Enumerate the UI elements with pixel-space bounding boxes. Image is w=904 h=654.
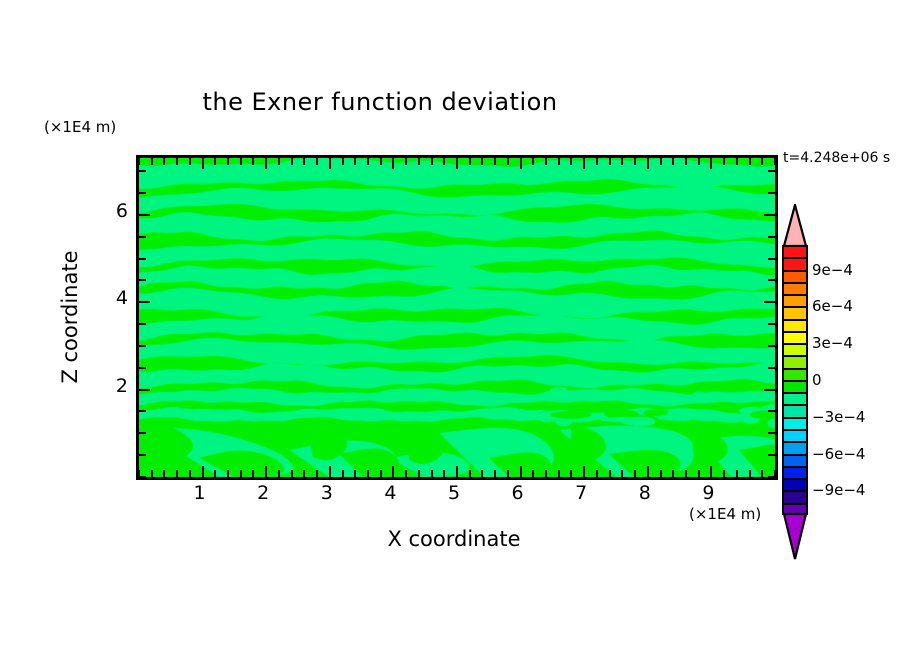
y-axis-minor-tick xyxy=(768,367,775,369)
x-axis-minor-tick xyxy=(609,158,611,165)
x-tick-label: 9 xyxy=(688,482,728,504)
x-axis-minor-tick xyxy=(405,470,407,477)
colorbar-band xyxy=(784,370,806,382)
x-axis-minor-tick xyxy=(507,158,509,165)
colorbar-band xyxy=(784,456,806,468)
x-axis-minor-tick xyxy=(214,158,216,165)
y-axis-minor-tick xyxy=(768,236,775,238)
colorbar-tick-label: 6e−4 xyxy=(812,297,853,315)
x-axis-minor-tick xyxy=(621,470,623,477)
y-axis-minor-tick xyxy=(139,192,146,194)
colorbar-tick-label: −9e−4 xyxy=(812,481,865,499)
x-axis-major-tick xyxy=(202,466,204,477)
x-tick-label: 5 xyxy=(434,482,474,504)
y-axis-minor-tick xyxy=(768,476,775,478)
x-axis-major-tick xyxy=(392,158,394,169)
x-axis-minor-tick xyxy=(481,158,483,165)
x-axis-major-tick xyxy=(265,158,267,169)
colorbar-tick-label: 9e−4 xyxy=(812,261,853,279)
y-axis-minor-tick xyxy=(139,279,146,281)
colorbar-band xyxy=(784,443,806,455)
x-axis-minor-tick xyxy=(214,470,216,477)
x-tick-label: 1 xyxy=(180,482,220,504)
x-axis-minor-tick xyxy=(252,158,254,165)
y-axis-minor-tick xyxy=(768,410,775,412)
colorbar-band xyxy=(784,296,806,308)
x-tick-label: 3 xyxy=(307,482,347,504)
y-axis-minor-tick xyxy=(768,279,775,281)
x-axis-minor-tick xyxy=(342,470,344,477)
x-axis-minor-tick xyxy=(685,470,687,477)
colorbar-band xyxy=(784,394,806,406)
y-axis-major-tick xyxy=(764,301,775,303)
x-axis-minor-tick xyxy=(151,158,153,165)
x-axis-minor-tick xyxy=(507,470,509,477)
x-axis-minor-tick xyxy=(303,158,305,165)
colorbar-band xyxy=(784,272,806,284)
y-axis-minor-tick xyxy=(139,258,146,260)
x-axis-minor-tick xyxy=(761,470,763,477)
x-axis-minor-tick xyxy=(240,470,242,477)
x-axis-minor-tick xyxy=(367,470,369,477)
y-axis-minor-tick xyxy=(768,432,775,434)
x-axis-minor-tick xyxy=(151,470,153,477)
x-axis-minor-tick xyxy=(291,470,293,477)
y-axis-minor-tick xyxy=(139,170,146,172)
colorbar-band xyxy=(784,468,806,480)
x-axis-minor-tick xyxy=(660,470,662,477)
x-axis-minor-tick xyxy=(227,158,229,165)
contour-plot-figure: the Exner function deviation (×1E4 m) t=… xyxy=(0,0,904,654)
colorbar-band xyxy=(784,480,806,492)
y-axis-minor-tick xyxy=(139,476,146,478)
x-axis-minor-tick xyxy=(380,158,382,165)
y-tick-label: 2 xyxy=(88,375,128,397)
x-axis-minor-tick xyxy=(405,158,407,165)
time-annotation: t=4.248e+06 s xyxy=(783,150,890,166)
x-axis-title: X coordinate xyxy=(136,527,772,551)
x-axis-major-tick xyxy=(583,466,585,477)
colorbar-band xyxy=(784,357,806,369)
colorbar-band xyxy=(784,431,806,443)
y-tick-label: 4 xyxy=(88,287,128,309)
x-axis-minor-tick xyxy=(291,158,293,165)
x-axis-minor-tick xyxy=(621,158,623,165)
x-axis-major-tick xyxy=(520,158,522,169)
x-axis-minor-tick xyxy=(240,158,242,165)
colorbar-band xyxy=(784,419,806,431)
x-axis-minor-tick xyxy=(761,158,763,165)
x-axis-minor-tick xyxy=(418,158,420,165)
y-axis-minor-tick xyxy=(768,345,775,347)
y-axis-minor-tick xyxy=(139,367,146,369)
colorbar-band xyxy=(784,333,806,345)
x-axis-major-tick xyxy=(329,158,331,169)
x-axis-minor-tick xyxy=(774,158,776,165)
x-axis-minor-tick xyxy=(176,158,178,165)
y-axis-minor-tick xyxy=(768,192,775,194)
y-axis-minor-tick xyxy=(139,432,146,434)
x-axis-minor-tick xyxy=(443,158,445,165)
x-tick-label: 2 xyxy=(243,482,283,504)
x-axis-minor-tick xyxy=(380,470,382,477)
colorbar-over-arrow-icon xyxy=(782,204,808,247)
y-axis-minor-tick xyxy=(139,410,146,412)
x-axis-major-tick xyxy=(710,158,712,169)
x-axis-major-tick xyxy=(265,466,267,477)
y-axis-title: Z coordinate xyxy=(58,217,82,417)
x-axis-minor-tick xyxy=(316,470,318,477)
x-axis-minor-tick xyxy=(634,158,636,165)
y-tick-label: 6 xyxy=(88,200,128,222)
x-axis-minor-tick xyxy=(609,470,611,477)
x-axis-minor-tick xyxy=(138,158,140,165)
x-axis-minor-tick xyxy=(418,470,420,477)
x-axis-minor-tick xyxy=(494,158,496,165)
x-axis-minor-tick xyxy=(431,158,433,165)
y-axis-major-tick xyxy=(139,214,150,216)
x-axis-minor-tick xyxy=(494,470,496,477)
x-axis-minor-tick xyxy=(443,470,445,477)
x-axis-minor-tick xyxy=(532,470,534,477)
x-axis-major-tick xyxy=(392,466,394,477)
x-axis-minor-tick xyxy=(596,158,598,165)
x-axis-minor-tick xyxy=(736,158,738,165)
x-axis-minor-tick xyxy=(354,158,356,165)
x-axis-minor-tick xyxy=(558,158,560,165)
x-tick-label: 6 xyxy=(498,482,538,504)
x-axis-minor-tick xyxy=(723,158,725,165)
x-axis-major-tick xyxy=(710,466,712,477)
y-axis-major-tick xyxy=(139,301,150,303)
x-axis-major-tick xyxy=(456,466,458,477)
colorbar: 9e−46e−43e−40−3e−4−6e−4−9e−4 xyxy=(782,204,808,514)
x-axis-minor-tick xyxy=(278,470,280,477)
colorbar-band xyxy=(784,321,806,333)
x-axis-minor-tick xyxy=(698,470,700,477)
colorbar-band xyxy=(784,406,806,418)
colorbar-tick-label: 3e−4 xyxy=(812,334,853,352)
x-axis-minor-tick xyxy=(367,158,369,165)
x-axis-major-tick xyxy=(583,158,585,169)
colorbar-band xyxy=(784,259,806,271)
x-axis-minor-tick xyxy=(189,158,191,165)
colorbar-tick-label: −6e−4 xyxy=(812,445,865,463)
y-axis-minor-tick xyxy=(768,170,775,172)
x-axis-minor-tick xyxy=(469,158,471,165)
x-axis-minor-tick xyxy=(545,470,547,477)
x-axis-minor-tick xyxy=(481,470,483,477)
x-axis-minor-tick xyxy=(596,470,598,477)
x-axis-major-tick xyxy=(456,158,458,169)
y-axis-minor-tick xyxy=(139,345,146,347)
colorbar-tick-label: −3e−4 xyxy=(812,408,865,426)
contour-field xyxy=(139,158,775,477)
x-axis-minor-tick xyxy=(163,158,165,165)
x-axis-minor-tick xyxy=(672,470,674,477)
x-axis-minor-tick xyxy=(736,470,738,477)
colorbar-band xyxy=(784,247,806,259)
page-title: the Exner function deviation xyxy=(0,88,760,116)
colorbar-tick-label: 0 xyxy=(812,371,822,389)
x-axis-minor-tick xyxy=(189,470,191,477)
colorbar-band xyxy=(784,284,806,296)
colorbar-band xyxy=(784,345,806,357)
x-axis-minor-tick xyxy=(163,470,165,477)
x-axis-minor-tick xyxy=(227,470,229,477)
x-axis-minor-tick xyxy=(570,470,572,477)
y-axis-major-tick xyxy=(139,389,150,391)
x-axis-minor-tick xyxy=(252,470,254,477)
x-axis-major-tick xyxy=(520,466,522,477)
x-axis-minor-tick xyxy=(660,158,662,165)
x-axis-minor-tick xyxy=(278,158,280,165)
x-axis-minor-tick xyxy=(316,158,318,165)
x-axis-minor-tick xyxy=(303,470,305,477)
x-axis-major-tick xyxy=(329,466,331,477)
x-axis-major-tick xyxy=(202,158,204,169)
colorbar-under-arrow-icon xyxy=(782,512,808,560)
x-axis-minor-tick xyxy=(342,158,344,165)
x-axis-minor-tick xyxy=(545,158,547,165)
x-axis-unit-label: (×1E4 m) xyxy=(689,505,761,523)
plot-area xyxy=(136,155,778,480)
x-axis-minor-tick xyxy=(723,470,725,477)
x-axis-minor-tick xyxy=(532,158,534,165)
x-axis-minor-tick xyxy=(176,470,178,477)
y-axis-major-tick xyxy=(764,214,775,216)
y-axis-minor-tick xyxy=(139,323,146,325)
x-tick-label: 7 xyxy=(561,482,601,504)
x-axis-minor-tick xyxy=(570,158,572,165)
x-axis-minor-tick xyxy=(634,470,636,477)
x-axis-major-tick xyxy=(647,158,649,169)
y-axis-minor-tick xyxy=(139,236,146,238)
y-axis-minor-tick xyxy=(768,258,775,260)
x-axis-minor-tick xyxy=(685,158,687,165)
y-axis-unit-label: (×1E4 m) xyxy=(44,118,116,136)
y-axis-minor-tick xyxy=(139,454,146,456)
colorbar-band xyxy=(784,382,806,394)
x-tick-label: 4 xyxy=(370,482,410,504)
x-axis-minor-tick xyxy=(749,158,751,165)
x-axis-minor-tick xyxy=(672,158,674,165)
x-axis-minor-tick xyxy=(698,158,700,165)
colorbar-band xyxy=(784,492,806,504)
y-axis-minor-tick xyxy=(768,323,775,325)
x-axis-minor-tick xyxy=(469,470,471,477)
x-axis-minor-tick xyxy=(749,470,751,477)
x-axis-minor-tick xyxy=(558,470,560,477)
x-axis-major-tick xyxy=(647,466,649,477)
colorbar-band xyxy=(784,308,806,320)
y-axis-minor-tick xyxy=(768,454,775,456)
colorbar-swatch-strip xyxy=(782,245,808,515)
x-axis-minor-tick xyxy=(431,470,433,477)
x-tick-label: 8 xyxy=(625,482,665,504)
y-axis-major-tick xyxy=(764,389,775,391)
x-axis-minor-tick xyxy=(354,470,356,477)
